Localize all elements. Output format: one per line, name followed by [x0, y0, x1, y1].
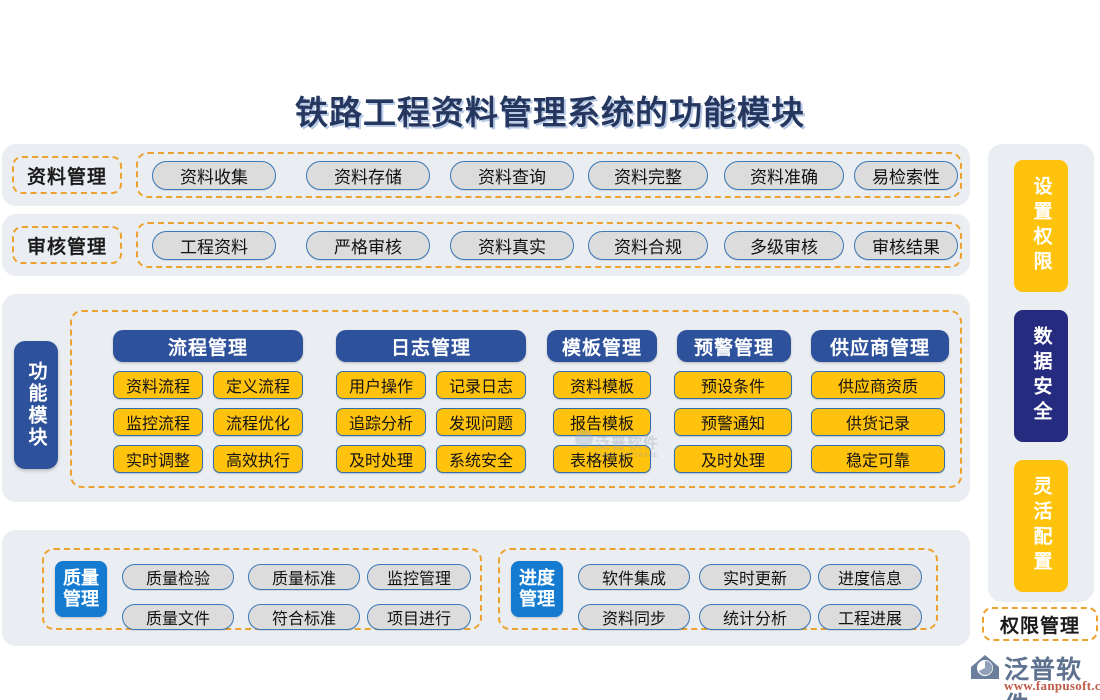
module-header-template[interactable]: 模板管理: [547, 330, 657, 362]
module-item-supplier-0[interactable]: 供应商资质: [811, 371, 945, 399]
module-item-process-2[interactable]: 监控流程: [113, 408, 203, 436]
watermark-ring: [575, 430, 593, 448]
module-item-template-2[interactable]: 表格模板: [553, 445, 651, 473]
quality-item-2[interactable]: 监控管理: [367, 564, 471, 590]
progress-item-4[interactable]: 统计分析: [699, 604, 811, 630]
row-item-data-management-2[interactable]: 资料查询: [450, 161, 574, 190]
module-item-log-1[interactable]: 记录日志: [436, 371, 526, 399]
row-item-data-management-3[interactable]: 资料完整: [588, 161, 708, 190]
row-item-audit-management-5[interactable]: 审核结果: [854, 231, 958, 260]
quality-management-label-line-1: 管理: [63, 589, 99, 610]
row-item-data-management-0[interactable]: 资料收集: [152, 161, 276, 190]
module-item-log-4[interactable]: 及时处理: [336, 445, 426, 473]
row-item-data-management-4[interactable]: 资料准确: [724, 161, 844, 190]
row-label-audit-management: 审核管理: [12, 226, 122, 264]
page-title: 铁路工程资料管理系统的功能模块: [0, 86, 1100, 134]
quality-item-0[interactable]: 质量检验: [122, 564, 234, 590]
module-item-alert-1[interactable]: 预警通知: [674, 408, 792, 436]
row-label-data-management: 资料管理: [12, 156, 122, 194]
sidebar-box-set-permission[interactable]: 设置权限: [1014, 160, 1068, 292]
module-item-supplier-1[interactable]: 供货记录: [811, 408, 945, 436]
quality-item-5[interactable]: 项目进行: [367, 604, 471, 630]
row-item-audit-management-1[interactable]: 严格审核: [306, 231, 430, 260]
quality-item-1[interactable]: 质量标准: [248, 564, 360, 590]
module-item-log-2[interactable]: 追踪分析: [336, 408, 426, 436]
module-item-process-0[interactable]: 资料流程: [113, 371, 203, 399]
module-item-log-3[interactable]: 发现问题: [436, 408, 526, 436]
quality-item-3[interactable]: 质量文件: [122, 604, 234, 630]
module-header-supplier[interactable]: 供应商管理: [811, 330, 949, 362]
sidebar-box-data-security[interactable]: 数据安全: [1014, 310, 1068, 442]
brand-logo: 泛普软件 www.fanpusoft.com: [968, 650, 1100, 698]
module-item-process-1[interactable]: 定义流程: [213, 371, 303, 399]
module-item-process-4[interactable]: 实时调整: [113, 445, 203, 473]
progress-management-label-line-1: 管理: [519, 589, 555, 610]
module-header-log[interactable]: 日志管理: [336, 330, 526, 362]
row-item-audit-management-2[interactable]: 资料真实: [450, 231, 574, 260]
module-header-alert[interactable]: 预警管理: [677, 330, 791, 362]
module-item-alert-2[interactable]: 及时处理: [674, 445, 792, 473]
progress-item-3[interactable]: 资料同步: [578, 604, 690, 630]
module-item-process-3[interactable]: 流程优化: [213, 408, 303, 436]
row-item-data-management-5[interactable]: 易检索性: [854, 161, 958, 190]
sidebar-box-flexible-config[interactable]: 灵活配置: [1014, 460, 1068, 592]
module-item-template-0[interactable]: 资料模板: [553, 371, 651, 399]
quality-item-4[interactable]: 符合标准: [248, 604, 360, 630]
progress-management-label: 进度 管理: [511, 561, 563, 617]
module-item-log-5[interactable]: 系统安全: [436, 445, 526, 473]
quality-management-label-line-0: 质量: [63, 568, 99, 589]
module-item-log-0[interactable]: 用户操作: [336, 371, 426, 399]
module-item-process-5[interactable]: 高效执行: [213, 445, 303, 473]
row-item-audit-management-3[interactable]: 资料合规: [588, 231, 708, 260]
row-item-audit-management-4[interactable]: 多级审核: [724, 231, 844, 260]
module-item-supplier-2[interactable]: 稳定可靠: [811, 445, 945, 473]
progress-item-1[interactable]: 实时更新: [699, 564, 811, 590]
row-item-data-management-1[interactable]: 资料存储: [306, 161, 430, 190]
function-modules-label: 功能模块: [14, 341, 58, 469]
progress-item-5[interactable]: 工程进展: [818, 604, 922, 630]
diagram-canvas: 铁路工程资料管理系统的功能模块 资料管理 资料收集 资料存储 资料查询 资料完整…: [0, 0, 1100, 700]
module-item-alert-0[interactable]: 预设条件: [674, 371, 792, 399]
module-item-template-1[interactable]: 报告模板: [553, 408, 651, 436]
sidebar-label-permission-management: 权限管理: [982, 607, 1098, 641]
row-item-audit-management-0[interactable]: 工程资料: [152, 231, 276, 260]
progress-item-0[interactable]: 软件集成: [578, 564, 690, 590]
progress-management-label-line-0: 进度: [519, 568, 555, 589]
quality-management-label: 质量 管理: [55, 561, 107, 617]
progress-item-2[interactable]: 进度信息: [818, 564, 922, 590]
module-header-process[interactable]: 流程管理: [113, 330, 303, 362]
logo-url: www.fanpusoft.com: [1004, 678, 1100, 694]
logo-mark-icon: [968, 652, 1002, 682]
